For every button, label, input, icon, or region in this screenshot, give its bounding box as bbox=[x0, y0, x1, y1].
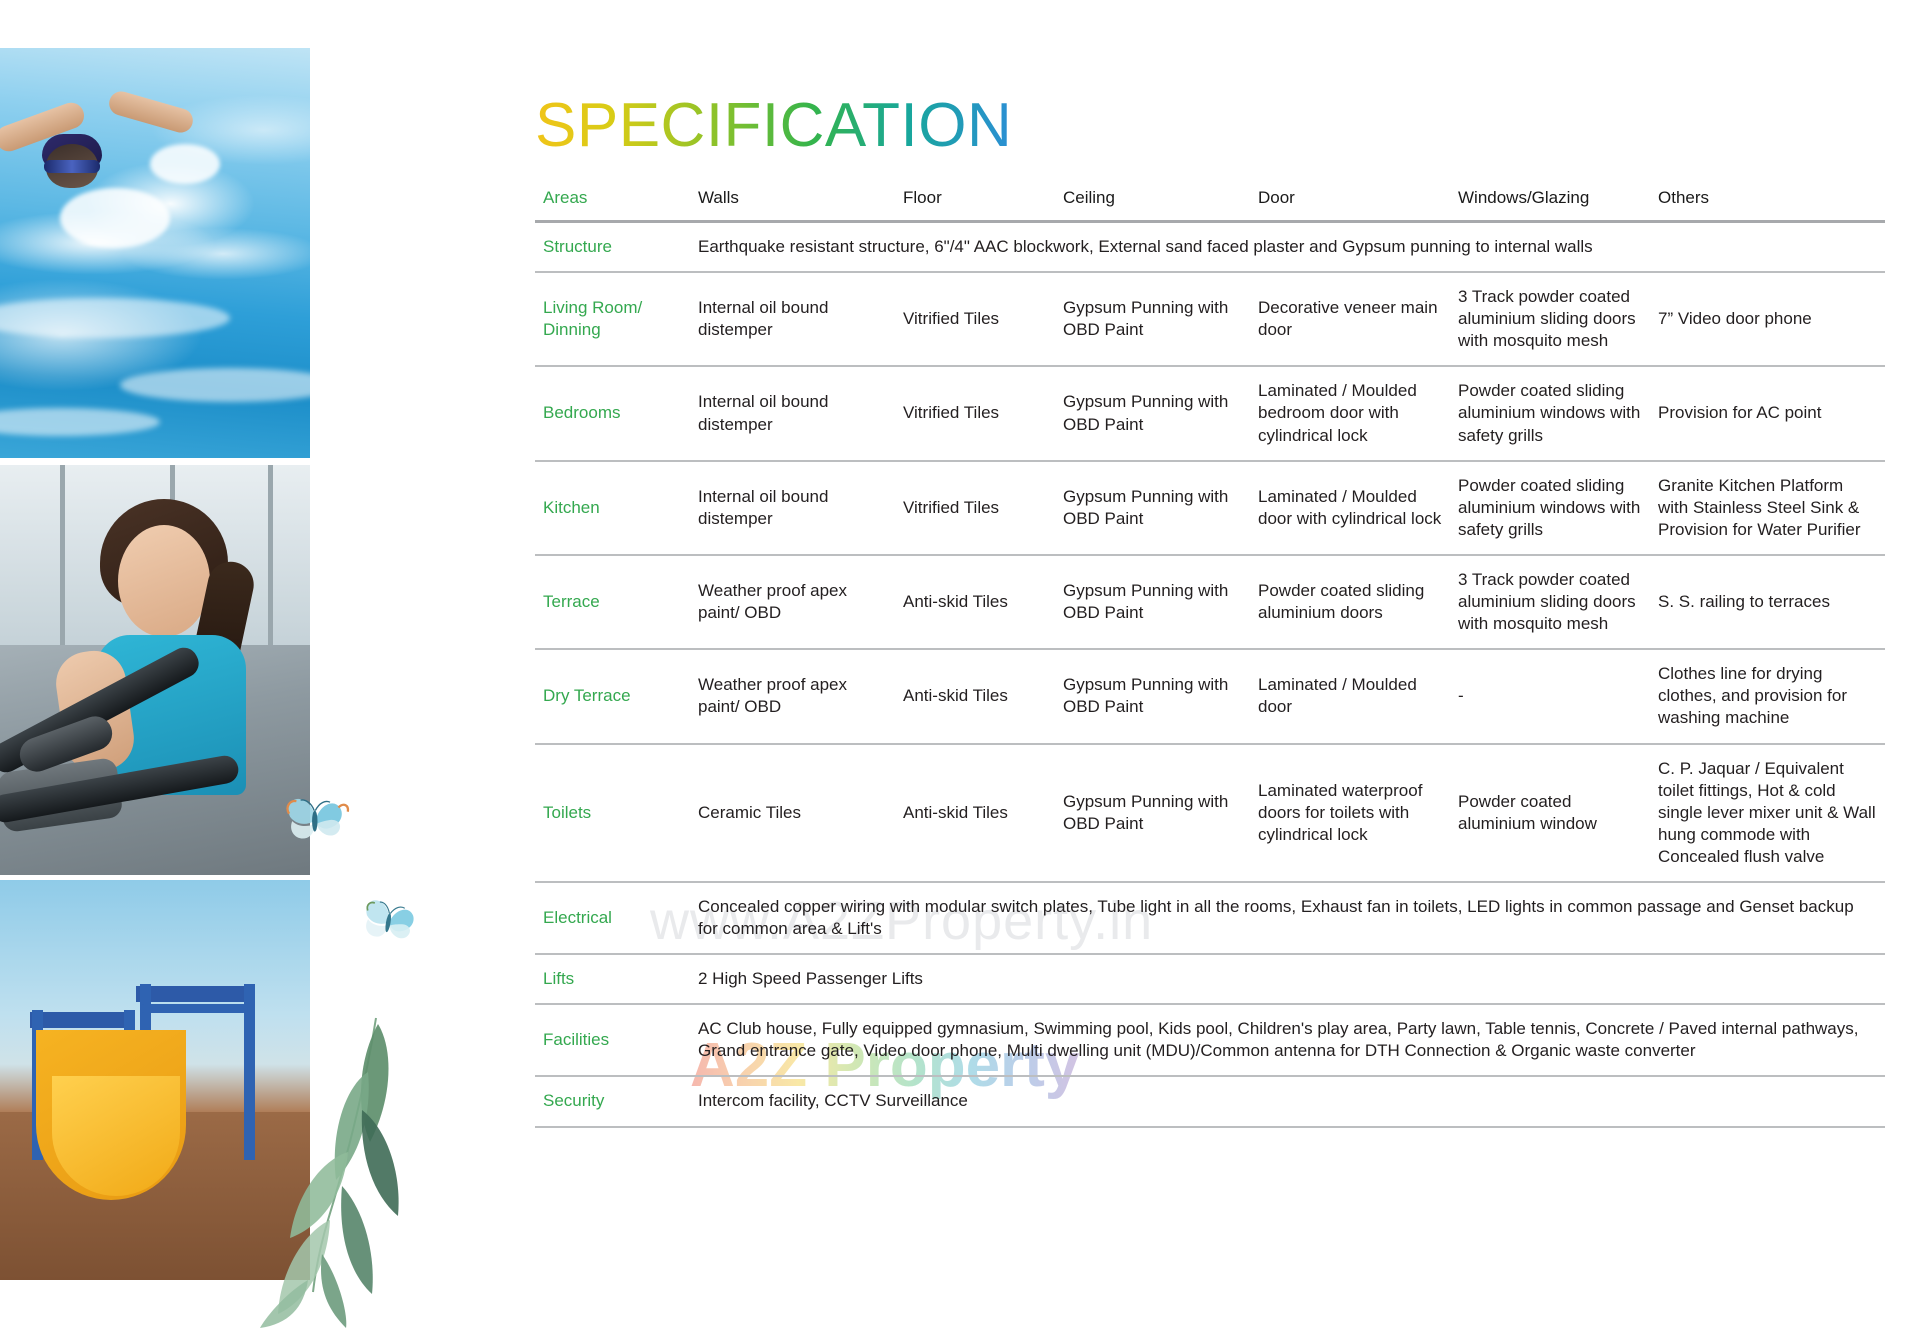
column-header-windows: Windows/Glazing bbox=[1450, 178, 1650, 222]
row-door: Powder coated sliding aluminium doors bbox=[1250, 555, 1450, 649]
row-door: Laminated / Moulded door bbox=[1250, 649, 1450, 743]
row-full-width-text: Intercom facility, CCTV Surveillance bbox=[690, 1076, 1885, 1126]
row-floor: Anti-skid Tiles bbox=[895, 649, 1055, 743]
row-others: S. S. railing to terraces bbox=[1650, 555, 1885, 649]
row-ceiling: Gypsum Punning with OBD Paint bbox=[1055, 744, 1250, 882]
row-area-label: Kitchen bbox=[535, 461, 690, 555]
row-area-label: Facilities bbox=[535, 1004, 690, 1076]
table-row: KitchenInternal oil bound distemperVitri… bbox=[535, 461, 1885, 555]
column-header-areas: Areas bbox=[535, 178, 690, 222]
row-area-label: Dry Terrace bbox=[535, 649, 690, 743]
table-row: Living Room/ DinningInternal oil bound d… bbox=[535, 272, 1885, 366]
row-full-width-text: Earthquake resistant structure, 6"/4" AA… bbox=[690, 222, 1885, 273]
row-area-label: Security bbox=[535, 1076, 690, 1126]
row-area-label: Living Room/ Dinning bbox=[535, 272, 690, 366]
row-door: Laminated waterproof doors for toilets w… bbox=[1250, 744, 1450, 882]
column-header-others: Others bbox=[1650, 178, 1885, 222]
row-walls: Internal oil bound distemper bbox=[690, 366, 895, 460]
row-area-label: Toilets bbox=[535, 744, 690, 882]
row-ceiling: Gypsum Punning with OBD Paint bbox=[1055, 461, 1250, 555]
row-walls: Weather proof apex paint/ OBD bbox=[690, 555, 895, 649]
table-row: ToiletsCeramic TilesAnti-skid TilesGypsu… bbox=[535, 744, 1885, 882]
page-title: SPECIFICATION bbox=[535, 90, 1012, 161]
table-row: Dry TerraceWeather proof apex paint/ OBD… bbox=[535, 649, 1885, 743]
row-others: 7” Video door phone bbox=[1650, 272, 1885, 366]
table-row: TerraceWeather proof apex paint/ OBDAnti… bbox=[535, 555, 1885, 649]
row-floor: Vitrified Tiles bbox=[895, 366, 1055, 460]
table-row: BedroomsInternal oil bound distemperVitr… bbox=[535, 366, 1885, 460]
row-door: Laminated / Moulded bedroom door with cy… bbox=[1250, 366, 1450, 460]
row-area-label: Terrace bbox=[535, 555, 690, 649]
row-walls: Weather proof apex paint/ OBD bbox=[690, 649, 895, 743]
row-area-label: Bedrooms bbox=[535, 366, 690, 460]
row-ceiling: Gypsum Punning with OBD Paint bbox=[1055, 649, 1250, 743]
table-header-row: Areas Walls Floor Ceiling Door Windows/G… bbox=[535, 178, 1885, 222]
row-door: Decorative veneer main door bbox=[1250, 272, 1450, 366]
row-walls: Internal oil bound distemper bbox=[690, 461, 895, 555]
row-door: Laminated / Moulded door with cylindrica… bbox=[1250, 461, 1450, 555]
row-area-label: Structure bbox=[535, 222, 690, 273]
row-ceiling: Gypsum Punning with OBD Paint bbox=[1055, 555, 1250, 649]
table-body: StructureEarthquake resistant structure,… bbox=[535, 222, 1885, 1127]
row-windows: Powder coated aluminium window bbox=[1450, 744, 1650, 882]
row-floor: Anti-skid Tiles bbox=[895, 744, 1055, 882]
table-header: Areas Walls Floor Ceiling Door Windows/G… bbox=[535, 178, 1885, 222]
table-row: StructureEarthquake resistant structure,… bbox=[535, 222, 1885, 273]
column-header-floor: Floor bbox=[895, 178, 1055, 222]
row-windows: 3 Track powder coated aluminium sliding … bbox=[1450, 555, 1650, 649]
row-area-label: Electrical bbox=[535, 882, 690, 954]
row-full-width-text: 2 High Speed Passenger Lifts bbox=[690, 954, 1885, 1004]
row-others: Clothes line for drying clothes, and pro… bbox=[1650, 649, 1885, 743]
row-walls: Ceramic Tiles bbox=[690, 744, 895, 882]
row-area-label: Lifts bbox=[535, 954, 690, 1004]
row-ceiling: Gypsum Punning with OBD Paint bbox=[1055, 366, 1250, 460]
row-windows: Powder coated sliding aluminium windows … bbox=[1450, 461, 1650, 555]
table-row: ElectricalConcealed copper wiring with m… bbox=[535, 882, 1885, 954]
row-windows: - bbox=[1450, 649, 1650, 743]
row-others: C. P. Jaquar / Equivalent toilet fitting… bbox=[1650, 744, 1885, 882]
row-others: Provision for AC point bbox=[1650, 366, 1885, 460]
table-row: FacilitiesAC Club house, Fully equipped … bbox=[535, 1004, 1885, 1076]
specification-table: Areas Walls Floor Ceiling Door Windows/G… bbox=[535, 178, 1885, 1128]
row-ceiling: Gypsum Punning with OBD Paint bbox=[1055, 272, 1250, 366]
row-floor: Vitrified Tiles bbox=[895, 461, 1055, 555]
row-full-width-text: AC Club house, Fully equipped gymnasium,… bbox=[690, 1004, 1885, 1076]
row-floor: Anti-skid Tiles bbox=[895, 555, 1055, 649]
row-walls: Internal oil bound distemper bbox=[690, 272, 895, 366]
table-row: Lifts2 High Speed Passenger Lifts bbox=[535, 954, 1885, 1004]
row-full-width-text: Concealed copper wiring with modular swi… bbox=[690, 882, 1885, 954]
row-floor: Vitrified Tiles bbox=[895, 272, 1055, 366]
row-windows: Powder coated sliding aluminium windows … bbox=[1450, 366, 1650, 460]
column-header-door: Door bbox=[1250, 178, 1450, 222]
column-header-walls: Walls bbox=[690, 178, 895, 222]
row-windows: 3 Track powder coated aluminium sliding … bbox=[1450, 272, 1650, 366]
row-others: Granite Kitchen Platform with Stainless … bbox=[1650, 461, 1885, 555]
column-header-ceiling: Ceiling bbox=[1055, 178, 1250, 222]
table-row: SecurityIntercom facility, CCTV Surveill… bbox=[535, 1076, 1885, 1126]
